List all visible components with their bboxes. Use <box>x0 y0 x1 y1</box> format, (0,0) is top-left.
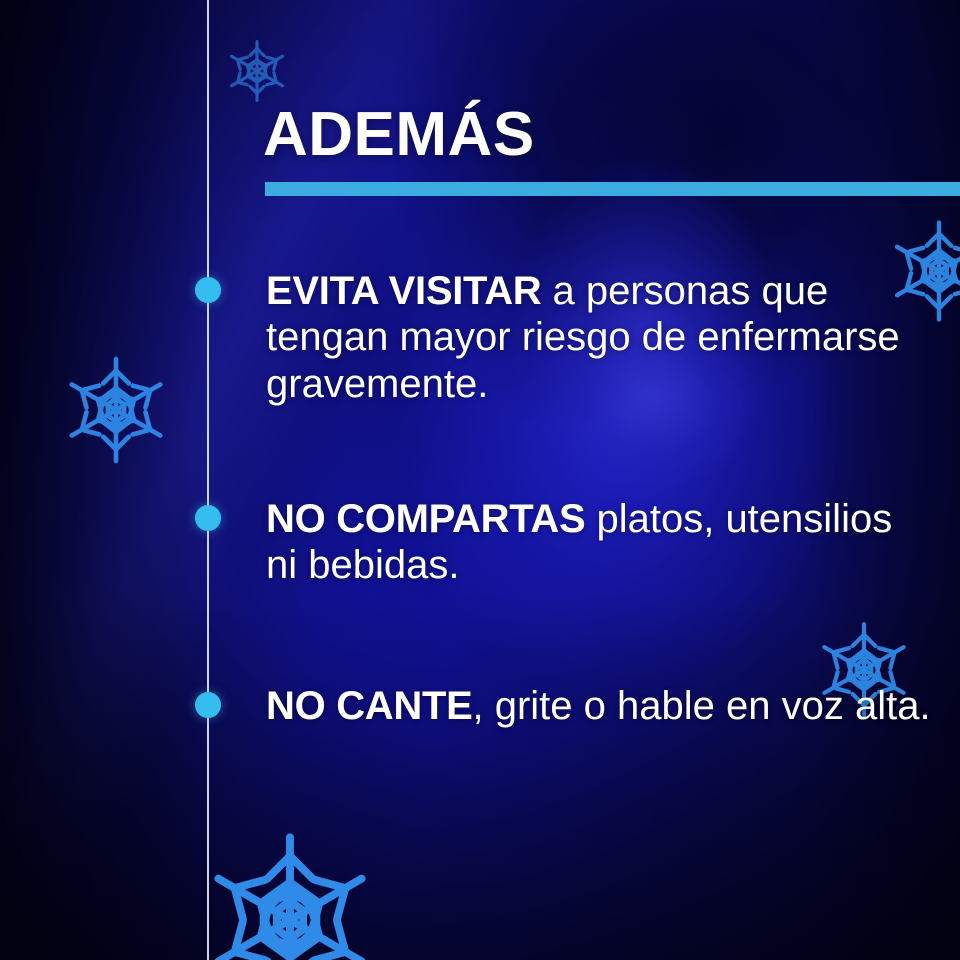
recommendation-3-emphasis: NO CANTE <box>266 684 473 728</box>
snowflake-icon-top-left <box>222 36 292 106</box>
snowflake-icon-left <box>58 352 174 468</box>
bullet-dot-2 <box>195 505 221 531</box>
recommendation-3-body: , grite o hable en voz alta. <box>473 684 931 728</box>
recommendation-1-emphasis: EVITA VISITAR <box>266 269 541 313</box>
snowflake-icon-bottom <box>196 826 384 960</box>
recommendation-item-3: NO CANTE, grite o hable en voz alta. <box>266 683 932 729</box>
timeline-rail <box>207 0 209 960</box>
bullet-dot-3 <box>195 692 221 718</box>
bullet-dot-1 <box>195 277 221 303</box>
recommendation-item-1: EVITA VISITAR a personas que tengan mayo… <box>266 268 932 407</box>
recommendation-2-emphasis: NO COMPARTAS <box>266 497 585 541</box>
poster-canvas: ADEMÁS EVITA VISITAR a personas que teng… <box>0 0 960 960</box>
recommendation-item-2: NO COMPARTAS platos, utensilios ni bebid… <box>266 496 932 589</box>
title-accent-bar <box>265 182 960 196</box>
page-title: ADEMÁS <box>263 104 535 166</box>
